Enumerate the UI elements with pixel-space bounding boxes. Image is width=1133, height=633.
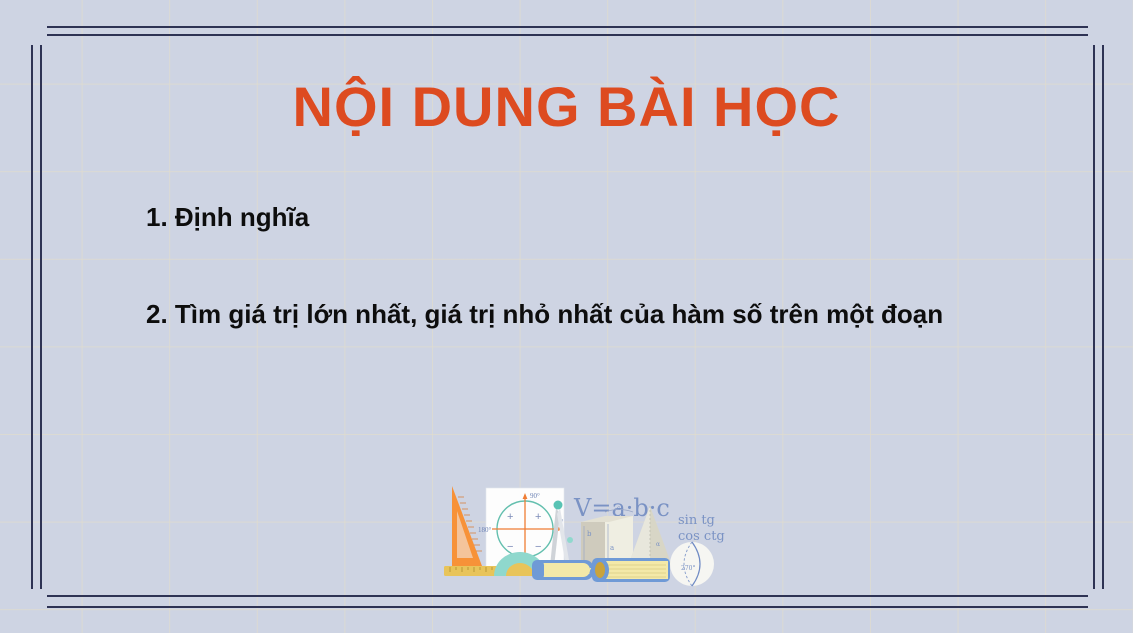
geometry-illustration-svg: 90° 180° 0° 270° + + − − — [424, 474, 734, 594]
sphere-shape: 270° — [670, 542, 714, 586]
label-side-b: b — [587, 530, 592, 538]
label-cone-angle: α — [656, 541, 660, 548]
page-title: NỘI DUNG BÀI HỌC — [0, 76, 1133, 138]
geometry-illustration: 90° 180° 0° 270° + + − − — [424, 474, 734, 594]
open-book-spine-inner — [595, 562, 605, 578]
compass-hinge — [554, 501, 563, 510]
open-book — [591, 558, 670, 582]
book-spine-label: GEOMETRY — [546, 567, 592, 576]
label-quadrant-q4: − — [535, 541, 541, 553]
label-angle-180: 180° — [478, 526, 492, 534]
list-item: 2. Tìm giá trị lớn nhất, giá trị nhỏ nhấ… — [146, 293, 991, 336]
label-angle-90: 90° — [530, 492, 540, 500]
slide-canvas: NỘI DUNG BÀI HỌC 1. Định nghĩa 2. Tìm gi… — [0, 0, 1133, 633]
book-edge-left — [532, 560, 544, 580]
open-book-pages — [602, 561, 668, 579]
geometry-book: GEOMETRY — [532, 560, 594, 580]
sphere-body — [670, 542, 714, 586]
list-item: 1. Định nghĩa — [146, 196, 1026, 239]
trig-label-line-1: sin tg — [678, 513, 715, 528]
prism-front-face — [605, 516, 633, 564]
trig-label-line-2: cos ctg — [678, 529, 725, 544]
frame-line-bottom-inner — [47, 595, 1088, 597]
frame-line-top-inner — [47, 34, 1088, 36]
label-quadrant-q1: + — [535, 511, 541, 523]
compass-knob — [567, 537, 573, 543]
label-quadrant-q2: + — [507, 511, 513, 523]
label-sphere-angle: 270° — [681, 565, 695, 572]
label-side-a: a — [610, 544, 614, 552]
frame-line-bottom-outer — [47, 606, 1088, 608]
prism-left-face — [581, 522, 605, 564]
lesson-contents-list: 1. Định nghĩa 2. Tìm giá trị lớn nhất, g… — [146, 196, 1026, 336]
label-quadrant-q3: − — [507, 541, 513, 553]
frame-line-top-outer — [47, 26, 1088, 28]
